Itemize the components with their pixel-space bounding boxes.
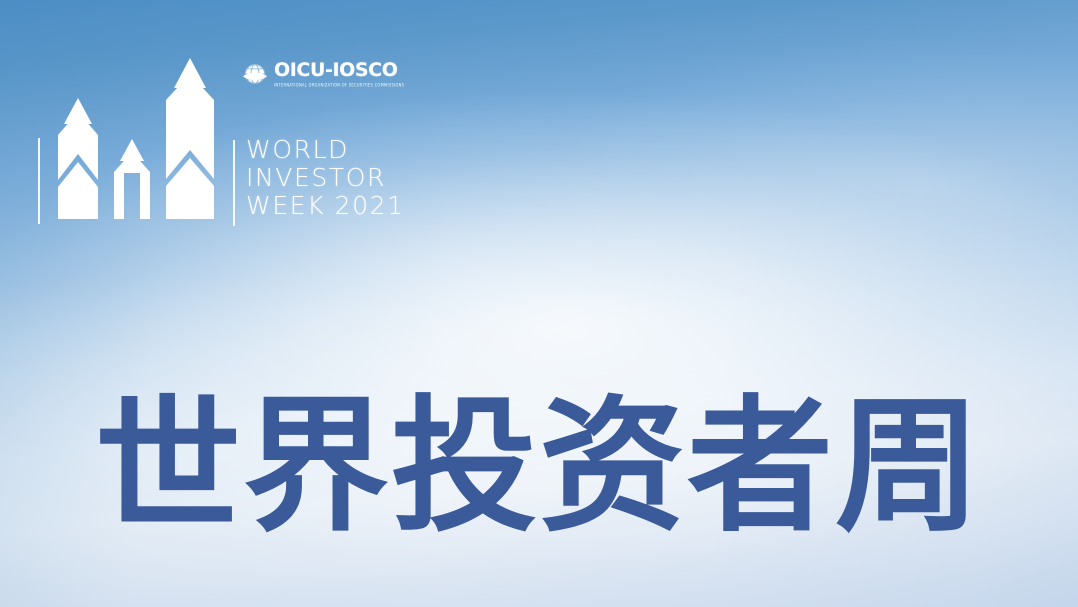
- wordmark-line-1: WORLD: [246, 136, 405, 164]
- wordmark-line-2: INVESTOR: [246, 164, 405, 192]
- event-wordmark: WORLD INVESTOR WEEK 2021: [246, 136, 405, 220]
- world-investor-week-banner: OICU-IOSCO INTERNATIONAL ORGANIZATION OF…: [0, 0, 1078, 607]
- divider-rule-right: [233, 140, 235, 226]
- divider-rule-left: [38, 138, 40, 224]
- wordmark-line-3: WEEK 2021: [246, 192, 405, 220]
- iosco-logo-block: OICU-IOSCO INTERNATIONAL ORGANIZATION OF…: [242, 60, 392, 108]
- page-title: 世界投资者周: [0, 392, 1078, 542]
- iosco-wordmark: OICU-IOSCO INTERNATIONAL ORGANIZATION OF…: [274, 60, 404, 88]
- globe-icon: [242, 61, 268, 87]
- iosco-subtitle: INTERNATIONAL ORGANIZATION OF SECURITIES…: [274, 84, 404, 88]
- iosco-title: OICU-IOSCO: [274, 61, 404, 80]
- logo-lockup: OICU-IOSCO INTERNATIONAL ORGANIZATION OF…: [30, 36, 390, 236]
- pencils-mark-icon: [30, 36, 240, 231]
